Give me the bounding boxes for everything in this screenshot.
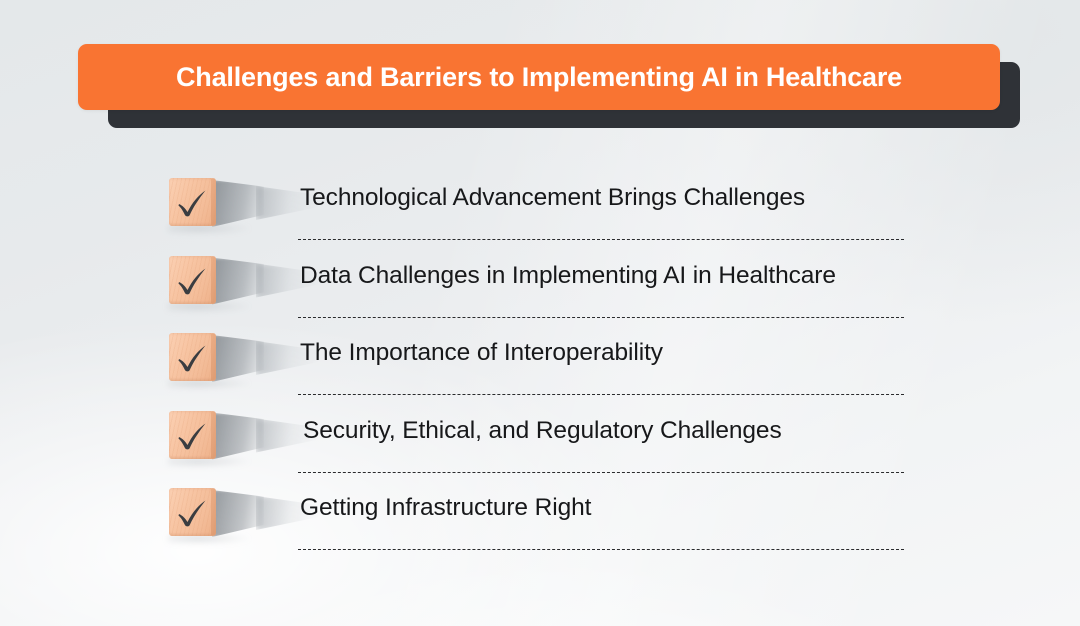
check-mark-wooden-cube-icon xyxy=(168,488,298,540)
page-title: Challenges and Barriers to Implementing … xyxy=(176,62,902,93)
wooden-cube xyxy=(169,411,216,459)
wooden-cube xyxy=(169,488,216,536)
list-item: Getting Infrastructure Right xyxy=(0,476,1080,554)
list-divider xyxy=(298,317,904,318)
check-mark-wooden-cube-icon xyxy=(168,411,298,463)
list-divider xyxy=(298,239,904,240)
list-item-label: Technological Advancement Brings Challen… xyxy=(300,184,805,212)
list-item-label: Security, Ethical, and Regulatory Challe… xyxy=(303,417,782,445)
list-divider xyxy=(298,394,904,395)
header-banner-group: Challenges and Barriers to Implementing … xyxy=(78,44,1020,128)
list-item: Technological Advancement Brings Challen… xyxy=(0,166,1080,244)
wooden-cube xyxy=(169,256,216,304)
check-icon xyxy=(169,178,216,226)
list-item: Security, Ethical, and Regulatory Challe… xyxy=(0,399,1080,477)
list-item: Data Challenges in Implementing AI in He… xyxy=(0,244,1080,322)
check-mark-wooden-cube-icon xyxy=(168,256,298,308)
list-divider xyxy=(298,549,904,550)
list-item-label: Getting Infrastructure Right xyxy=(300,494,591,522)
check-icon xyxy=(169,488,216,536)
wooden-cube xyxy=(169,178,216,226)
check-icon xyxy=(169,411,216,459)
check-mark-wooden-cube-icon xyxy=(168,333,298,385)
wooden-cube xyxy=(169,333,216,381)
list-item-label: The Importance of Interoperability xyxy=(300,339,663,367)
check-mark-wooden-cube-icon xyxy=(168,178,298,230)
infographic-canvas: Challenges and Barriers to Implementing … xyxy=(0,0,1080,626)
list-item-label: Data Challenges in Implementing AI in He… xyxy=(300,262,836,290)
list-divider xyxy=(298,472,904,473)
check-icon xyxy=(169,256,216,304)
header-banner: Challenges and Barriers to Implementing … xyxy=(78,44,1000,110)
check-icon xyxy=(169,333,216,381)
checklist: Technological Advancement Brings Challen… xyxy=(0,166,1080,554)
list-item: The Importance of Interoperability xyxy=(0,321,1080,399)
